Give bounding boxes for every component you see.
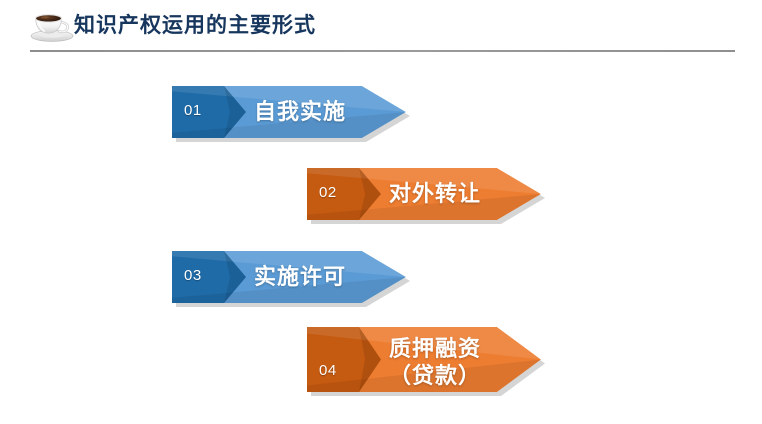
banner-label: 自我实施	[254, 98, 390, 125]
slide-title-bar: 知识产权运用的主要形式	[0, 0, 762, 58]
coffee-cup-icon	[26, 9, 78, 43]
arrow-banner-04[interactable]: 04质押融资（贷款）	[307, 327, 541, 392]
arrow-banner-02[interactable]: 02对外转让	[307, 168, 541, 220]
banner-label: 实施许可	[254, 263, 390, 290]
banner-label: 对外转让	[389, 180, 525, 207]
slide-canvas: 知识产权运用的主要形式	[0, 0, 762, 424]
banner-number: 04	[319, 362, 337, 379]
arrow-banner-01[interactable]: 01自我实施	[172, 86, 406, 138]
page-title: 知识产权运用的主要形式	[74, 9, 316, 43]
banner-number: 03	[184, 267, 202, 284]
banner-number: 02	[319, 184, 337, 201]
arrow-banner-03[interactable]: 03实施许可	[172, 251, 406, 303]
banner-label: 质押融资（贷款）	[389, 335, 525, 389]
banner-number: 01	[184, 102, 202, 119]
title-divider	[30, 50, 735, 52]
